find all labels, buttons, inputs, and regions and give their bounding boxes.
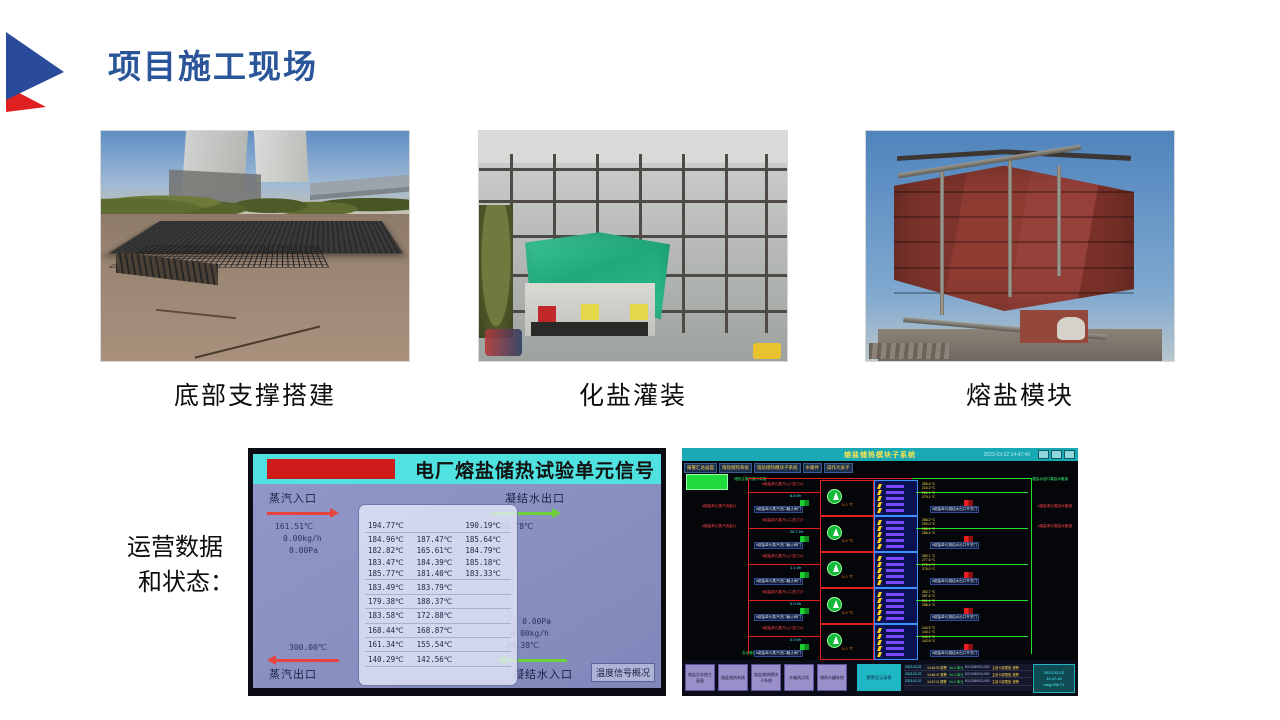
status-indicator-green xyxy=(686,474,728,490)
scada-nav-button[interactable]: 储热水罐系统 xyxy=(817,664,847,691)
heat-exchanger-coil xyxy=(874,552,918,588)
temperature-cell: 172.88℃ xyxy=(414,611,463,620)
brand-logo-icon xyxy=(4,28,66,112)
maximize-icon[interactable] xyxy=(1051,450,1062,459)
unit-outlet-valve-tag: #熔盐单元凝结水出口开关门 xyxy=(930,542,979,549)
alarm-log-table[interactable]: 2023-03-2214:46:03 报警No.2 单元 Pa 点KX12040… xyxy=(904,664,1032,691)
temperature-cell: 179.38℃ xyxy=(365,597,414,606)
circulation-pump-icon xyxy=(827,633,842,648)
unit-outlet-valve-tag: #熔盐单元凝结水出口开关门 xyxy=(930,614,979,621)
unit-inlet-line xyxy=(748,492,820,493)
unit-temp-value: 0.0 ℃ xyxy=(842,646,853,651)
steam-inlet-arrow-icon xyxy=(267,512,331,515)
steam-outlet-label: 蒸汽出口 xyxy=(269,666,317,682)
photo-cell-3: 熔盐模块 xyxy=(865,130,1175,412)
unit-temp-value: 0.0 ℃ xyxy=(842,610,853,615)
unit-temp-value: 0.0 ℃ xyxy=(842,574,853,579)
photo-molten-salt-module xyxy=(865,130,1175,362)
temperature-cell: 183.58℃ xyxy=(365,611,414,620)
temperature-cell: 182.82℃ xyxy=(365,546,414,555)
unit-outlet-valve-tag: #熔盐单元凝结水出口开关门 xyxy=(930,506,979,513)
minimize-icon[interactable] xyxy=(1038,450,1049,459)
unit-outlet-valve-tag: #熔盐单元凝结水出口开关门 xyxy=(930,578,979,585)
inlet-valve-icon xyxy=(800,644,809,650)
circulation-pump-icon xyxy=(827,597,842,612)
left-tag-2: #熔盐单元蒸汽流量计 xyxy=(702,524,736,529)
unit-temp-value: 0.0 ℃ xyxy=(842,502,853,507)
left-tag-1: #熔盐单元蒸汽流量计 xyxy=(702,504,736,509)
unit-readout-value: 290.0 ℃ xyxy=(922,522,935,526)
scada-nav-button[interactable]: 水箱热点场 xyxy=(784,664,814,691)
inlet-valve-icon xyxy=(800,572,809,578)
temperature-row: 183.58℃172.88℃ xyxy=(365,609,511,623)
temperature-cell: 184.39℃ xyxy=(414,558,463,567)
clock-time: 14:47:40 xyxy=(1046,676,1062,681)
unit-inlet-line xyxy=(748,636,820,637)
photo-cell-2: 化盐灌装 xyxy=(478,130,788,412)
unit-readout-group: 252.7 ℃287.6 ℃261.1 ℃258.4 ℃ xyxy=(922,590,935,607)
alarm-cell: KX12040VCL000 xyxy=(964,665,991,669)
alarm-cell: No.2 单元 Pa 点 xyxy=(948,679,964,684)
temperature-cell: 142.56℃ xyxy=(414,655,463,664)
alarm-row[interactable]: 2023-03-2214:46:47 报警No.1 单元 Pa 点KX12040… xyxy=(904,671,1032,678)
circulation-pump-icon xyxy=(827,525,842,540)
unit-readout-group: 286.2 ℃290.0 ℃288.1 ℃286.4 ℃ xyxy=(922,518,935,535)
close-icon[interactable] xyxy=(1064,450,1075,459)
photo-cell-1: 底部支撑搭建 xyxy=(100,130,410,412)
alarm-cell: No.1 单元 Pa 点 xyxy=(948,672,964,677)
condensate-inlet-label: 凝结水入口 xyxy=(513,666,573,682)
temperature-cell: 165.61℃ xyxy=(414,546,463,555)
unit-readout-value: 216.3 ℃ xyxy=(922,486,935,490)
temperature-cell: 181.40℃ xyxy=(414,569,463,578)
ops-data-label: 运营数据 和状态： xyxy=(100,530,250,600)
hmi1-title-bar: 电厂熔盐储热试验单元信号 xyxy=(253,454,661,484)
unit-outlet-valve-tag: #熔盐单元凝结水出口开关门 xyxy=(930,650,979,657)
temperature-cell: 168.87℃ xyxy=(414,626,463,635)
photo-caption-2: 化盐灌装 xyxy=(478,376,788,412)
heat-exchanger-coil xyxy=(874,480,918,516)
heat-exchanger-coil xyxy=(874,588,918,624)
redaction-block xyxy=(267,459,395,479)
temperature-cell: 185.18℃ xyxy=(462,558,511,567)
alarm-cell: 2023-03-22 xyxy=(904,679,926,683)
steam-inlet-label: 蒸汽入口 xyxy=(269,490,317,506)
temperature-row: 194.77℃190.19℃ xyxy=(365,519,511,533)
hmi1-canvas: 蒸汽入口 161.51℃ 0.00kg/h 0.00Pa 300.00℃ 蒸汽出… xyxy=(253,484,661,688)
temperature-row: 185.77℃181.40℃183.33℃ xyxy=(365,568,511,581)
ops-label-line-2: 和状态： xyxy=(100,565,250,600)
temperature-cell: 185.64℃ xyxy=(462,535,511,544)
unit-flow-value: 0.0 t/h xyxy=(790,637,801,642)
condensate-inlet-pressure: 0.00Pa xyxy=(522,617,551,626)
steam-inlet-flow: 0.00kg/h xyxy=(283,534,322,543)
alarm-cell: 主用卡超限值 xyxy=(991,665,1012,670)
unit-temp-value: 0.0 ℃ xyxy=(842,538,853,543)
photo-foundation-support xyxy=(100,130,410,362)
temperature-cell: 184.96℃ xyxy=(365,535,414,544)
temperature-cell: 187.47℃ xyxy=(414,535,463,544)
steam-inlet-pressure: 0.00Pa xyxy=(289,546,318,555)
alarm-cell: 主用卡超限值 xyxy=(991,672,1012,677)
right-tag-1: #熔盐单元凝结水管道 xyxy=(1038,504,1072,509)
window-controls[interactable] xyxy=(1038,450,1075,459)
photo-salt-melting-filling xyxy=(478,130,788,362)
inlet-valve-icon xyxy=(800,500,809,506)
temperature-row: 184.96℃187.47℃185.64℃ xyxy=(365,533,511,545)
alarm-cell: 2023-03-22 xyxy=(904,672,926,676)
alarm-cell: 14:47:11 报警 xyxy=(926,679,948,684)
temperature-cell: 183.47℃ xyxy=(365,558,414,567)
alarm-row[interactable]: 2023-03-2214:47:11 报警No.2 单元 Pa 点KX12040… xyxy=(904,678,1032,685)
temperature-row: 140.29℃142.56℃ xyxy=(365,652,511,666)
temperature-cell: 168.44℃ xyxy=(365,626,414,635)
temperature-cell: 183.33℃ xyxy=(462,569,511,578)
unit-inlet-line xyxy=(748,528,820,529)
photo-caption-3: 熔盐模块 xyxy=(865,376,1175,412)
temperature-table: 194.77℃190.19℃184.96℃187.47℃185.64℃182.8… xyxy=(358,504,518,686)
alarm-cell: KX12040VCL000 xyxy=(964,672,991,676)
unit-readout-value: 277.6 ℃ xyxy=(922,558,935,562)
scada-title: 熔盐储热模块子系统 xyxy=(844,450,916,460)
unit-inlet-valve-tag: #熔盐单元蒸汽进口截止阀门 xyxy=(754,578,803,585)
alarm-cell: 2023-03-22 xyxy=(904,665,926,669)
unit-readout-value: 142.6 ℃ xyxy=(922,639,935,643)
unit-readout-value: 144.1 ℃ xyxy=(922,630,935,634)
scada-nav-button[interactable]: 熔盐总系统主画面 xyxy=(685,664,715,691)
temperature-cell: 194.77℃ xyxy=(365,521,414,530)
scada-footer: 熔盐总系统主画面熔盐储热系统熔盐储热模块子系统水箱热点场储热水罐系统 报警及记录… xyxy=(682,660,1078,696)
page-title: 项目施工现场 xyxy=(108,40,318,88)
temperature-cell: 190.19℃ xyxy=(462,521,511,530)
circulation-pump-icon xyxy=(827,489,842,504)
scada-nav-button[interactable]: 熔盐储热模块子系统 xyxy=(751,664,781,691)
scada-nav-buttons[interactable]: 熔盐总系统主画面熔盐储热系统熔盐储热模块子系统水箱热点场储热水罐系统 xyxy=(685,664,847,691)
temperature-cell: 183.79℃ xyxy=(414,583,463,592)
unit-flow-value: 1.1 t/h xyxy=(790,565,801,570)
alarm-cell: KX12040VCL000 xyxy=(964,679,991,683)
unit-flow-value: 0.0 t/h xyxy=(790,601,801,606)
alarm-cell: 报警 xyxy=(1011,672,1032,677)
heat-exchanger-coil xyxy=(874,624,918,660)
unit-readout-value: 278.0 ℃ xyxy=(922,567,935,571)
steam-outlet-arrow-icon xyxy=(275,659,339,662)
temperature-row: 161.34℃155.54℃ xyxy=(365,638,511,652)
temperature-overview-button[interactable]: 温度信号概况 xyxy=(591,663,655,682)
unit-inlet-tag: #熔盐单元蒸汽入口压力计 xyxy=(762,518,804,523)
hmi1-title: 电厂熔盐储热试验单元信号 xyxy=(415,456,655,483)
unit-inlet-line xyxy=(748,564,820,565)
hmi-screenshot-signal-unit: 电厂熔盐储热试验单元信号 蒸汽入口 161.51℃ 0.00kg/h 0.00P… xyxy=(248,448,666,696)
slide-root: 项目施工现场 xyxy=(0,0,1280,720)
photo-caption-1: 底部支撑搭建 xyxy=(100,376,410,412)
unit-inlet-tag: #熔盐单元蒸汽入口压力计 xyxy=(762,554,804,559)
scada-diagram: 储热注蒸汽蒸汽母管 凝结水回口凝结水管道 #熔盐单元蒸汽流量计 #熔盐单元蒸汽流… xyxy=(682,472,1078,660)
clock-msg: msg:096:71 xyxy=(1044,682,1065,687)
right-tag-2: #熔盐单元凝结水管道 xyxy=(1038,524,1072,529)
inlet-valve-icon xyxy=(800,536,809,542)
temperature-row: 182.82℃165.61℃184.79℃ xyxy=(365,545,511,557)
scada-title-bar: 熔盐储热模块子系统 2023-03-22 14:47:40 xyxy=(682,448,1078,461)
steam-inlet-temp: 161.51℃ xyxy=(275,522,313,531)
steam-outlet-temp: 300.00℃ xyxy=(289,643,327,652)
unit-readout-value: 287.6 ℃ xyxy=(922,594,935,598)
unit-readout-value: 286.4 ℃ xyxy=(922,531,935,535)
unit-inlet-tag: #熔盐单元蒸汽入口压力计 xyxy=(762,482,804,487)
temperature-row: 168.44℃168.87℃ xyxy=(365,624,511,638)
unit-readout-value: 279.1 ℃ xyxy=(922,495,935,499)
hmi-screenshot-scada-subsystem: 熔盐储热模块子系统 2023-03-22 14:47:40 报警汇总画面熔盐储热… xyxy=(682,448,1078,696)
ops-label-line-1: 运营数据 xyxy=(127,533,223,561)
unit-inlet-line xyxy=(748,600,820,601)
alarm-cell: 14:46:47 报警 xyxy=(926,672,948,677)
alarm-cell: 14:46:03 报警 xyxy=(926,665,948,670)
circulation-pump-icon xyxy=(827,561,842,576)
unit-inlet-tag: #熔盐单元蒸汽入口压力计 xyxy=(762,590,804,595)
alarm-cell: No.2 单元 Pa 点 xyxy=(948,665,964,670)
unit-inlet-valve-tag: #熔盐单元蒸汽进口截止阀门 xyxy=(754,506,803,513)
right-header-tag: 凝结水回口凝结水管道 xyxy=(1032,477,1068,482)
unit-readout-group: 285.6 ℃216.3 ℃280.1 ℃279.1 ℃ xyxy=(922,482,935,499)
temperature-cell: 183.49℃ xyxy=(365,583,414,592)
temperature-row: 183.49℃183.79℃ xyxy=(365,580,511,594)
temperature-cell: 140.29℃ xyxy=(365,655,414,664)
alarm-tab[interactable]: 报警及记录表 xyxy=(857,664,901,691)
temperature-cell: 185.77℃ xyxy=(365,569,414,578)
temperature-cell: 184.79℃ xyxy=(462,546,511,555)
scada-clock-panel: 2023-03-22 14:47:40 msg:096:71 xyxy=(1033,664,1075,693)
unit-inlet-valve-tag: #熔盐单元蒸汽进口截止阀门 xyxy=(754,650,803,657)
alarm-cell: 报警 xyxy=(1011,665,1032,670)
unit-flow-value: 26.7 t/h xyxy=(790,529,803,534)
temperature-row: 183.47℃184.39℃185.18℃ xyxy=(365,556,511,568)
unit-flow-value: 6.8 t/h xyxy=(790,493,801,498)
temperature-cell: 155.54℃ xyxy=(414,640,463,649)
inlet-valve-icon xyxy=(800,608,809,614)
photo-gallery: 底部支撑搭建 xyxy=(0,130,1280,440)
unit-inlet-tag: #熔盐单元蒸汽入口压力计 xyxy=(762,626,804,631)
alarm-cell: 报警 xyxy=(1011,679,1032,684)
unit-inlet-valve-tag: #熔盐单元蒸汽进口截止阀门 xyxy=(754,614,803,621)
temperature-cell: 161.34℃ xyxy=(365,640,414,649)
scada-datetime: 2023-03-22 14:47:40 xyxy=(984,452,1030,458)
unit-readout-value: 258.4 ℃ xyxy=(922,603,935,607)
condensate-outlet-label: 凝结水出口 xyxy=(505,490,565,506)
alarm-row[interactable]: 2023-03-2214:46:03 报警No.2 单元 Pa 点KX12040… xyxy=(904,664,1032,671)
alarm-cell: 主用卡超限值 xyxy=(991,679,1012,684)
temperature-row: 179.38℃188.37℃ xyxy=(365,595,511,609)
scada-nav-button[interactable]: 熔盐储热系统 xyxy=(718,664,748,691)
temperature-cell: 188.37℃ xyxy=(414,597,463,606)
heat-exchanger-coil xyxy=(874,516,918,552)
unit-inlet-valve-tag: #熔盐单元蒸汽进口截止阀门 xyxy=(754,542,803,549)
unit-readout-group: 144.9 ℃144.1 ℃143.2 ℃142.6 ℃ xyxy=(922,626,935,643)
clock-date: 2023-03-22 xyxy=(1044,670,1064,675)
unit-readout-group: 280.1 ℃277.6 ℃275.4 ℃278.0 ℃ xyxy=(922,554,935,571)
